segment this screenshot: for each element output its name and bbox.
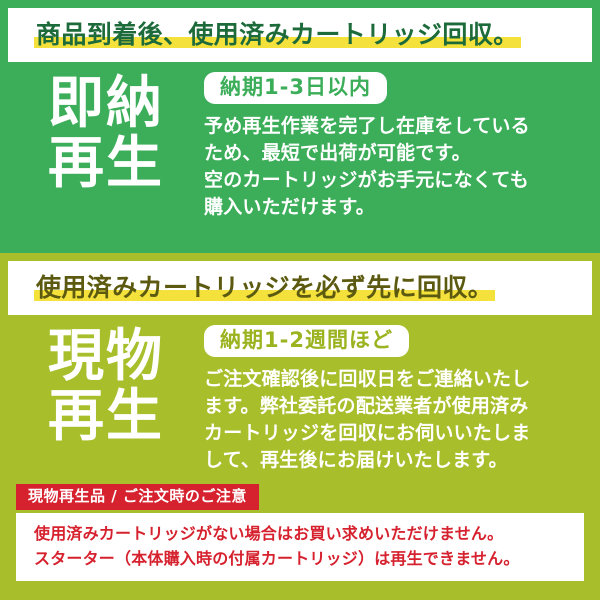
section-genbutsu-description: ご注文確認後に回収日をご連絡いたし ます。弊社委託の配送業者が使用済み カートリ… — [204, 366, 582, 474]
section-sokunou-description-line-4: 購入いただけます。 — [204, 194, 582, 221]
section-sokunou-header-label: 商品到着後、使用済みカートリッジ回収。 — [36, 20, 519, 49]
order-notice-line-2: スターター（本体購入時の付属カートリッジ）は再生できません。 — [34, 547, 570, 572]
section-sokunou-description-line-1: 予め再生作業を完了し在庫をしている — [204, 113, 582, 140]
section-genbutsu-content: 納期1-2週間ほど ご注文確認後に回収日をご連絡いたし ます。弊社委託の配送業者… — [204, 325, 592, 474]
section-sokunou-content: 納期1-3日以内 予め再生作業を完了し在庫をしている ため、最短で出荷が可能です… — [204, 72, 592, 221]
section-sokunou: 商品到着後、使用済みカートリッジ回収。 即納 再生 納期1-3日以内 予め再生作… — [0, 0, 600, 253]
section-genbutsu-title-line-2: 再生 — [8, 387, 204, 447]
section-sokunou-title-line-2: 再生 — [8, 134, 204, 194]
section-genbutsu-header-label: 使用済みカートリッジを必ず先に回収。 — [36, 273, 493, 302]
section-genbutsu-description-line-2: ます。弊社委託の配送業者が使用済み — [204, 393, 582, 420]
section-genbutsu-title-line-1: 現物 — [8, 327, 204, 387]
section-genbutsu-description-line-4: して、再生後にお届けいたします。 — [204, 447, 582, 474]
section-sokunou-title-line-1: 即納 — [8, 74, 204, 134]
section-genbutsu-header-strip: 使用済みカートリッジを必ず先に回収。 — [8, 261, 592, 315]
order-notice-line-1: 使用済みカートリッジがない場合はお買い求めいただけません。 — [34, 522, 570, 547]
section-sokunou-body: 即納 再生 納期1-3日以内 予め再生作業を完了し在庫をしている ため、最短で出… — [8, 62, 592, 221]
order-notice: 現物再生品 / ご注文時のご注意 使用済みカートリッジがない場合はお買い求めいた… — [8, 484, 592, 582]
section-genbutsu-header: 使用済みカートリッジを必ず先に回収。 — [34, 275, 495, 302]
section-genbutsu-lead-time-badge: 納期1-2週間ほど — [204, 325, 409, 357]
section-genbutsu: 使用済みカートリッジを必ず先に回収。 現物 再生 納期1-2週間ほど ご注文確認… — [0, 253, 600, 600]
section-sokunou-description: 予め再生作業を完了し在庫をしている ため、最短で出荷が可能です。 空のカートリッ… — [204, 113, 582, 221]
order-notice-banner: 現物再生品 / ご注文時のご注意 — [16, 484, 259, 510]
section-genbutsu-body: 現物 再生 納期1-2週間ほど ご注文確認後に回収日をご連絡いたし ます。弊社委… — [8, 315, 592, 474]
section-sokunou-lead-time-badge: 納期1-3日以内 — [204, 72, 387, 104]
section-sokunou-header: 商品到着後、使用済みカートリッジ回収。 — [34, 22, 521, 49]
section-sokunou-header-strip: 商品到着後、使用済みカートリッジ回収。 — [8, 8, 592, 62]
section-genbutsu-description-line-3: カートリッジを回収にお伺いいたしま — [204, 420, 582, 447]
product-delivery-infographic: 商品到着後、使用済みカートリッジ回収。 即納 再生 納期1-3日以内 予め再生作… — [0, 0, 600, 600]
section-sokunou-description-line-2: ため、最短で出荷が可能です。 — [204, 140, 582, 167]
section-genbutsu-title: 現物 再生 — [8, 325, 204, 448]
section-sokunou-description-line-3: 空のカートリッジがお手元になくても — [204, 167, 582, 194]
section-sokunou-title: 即納 再生 — [8, 72, 204, 195]
section-genbutsu-description-line-1: ご注文確認後に回収日をご連絡いたし — [204, 366, 582, 393]
order-notice-box: 使用済みカートリッジがない場合はお買い求めいただけません。 スターター（本体購入… — [16, 513, 584, 582]
